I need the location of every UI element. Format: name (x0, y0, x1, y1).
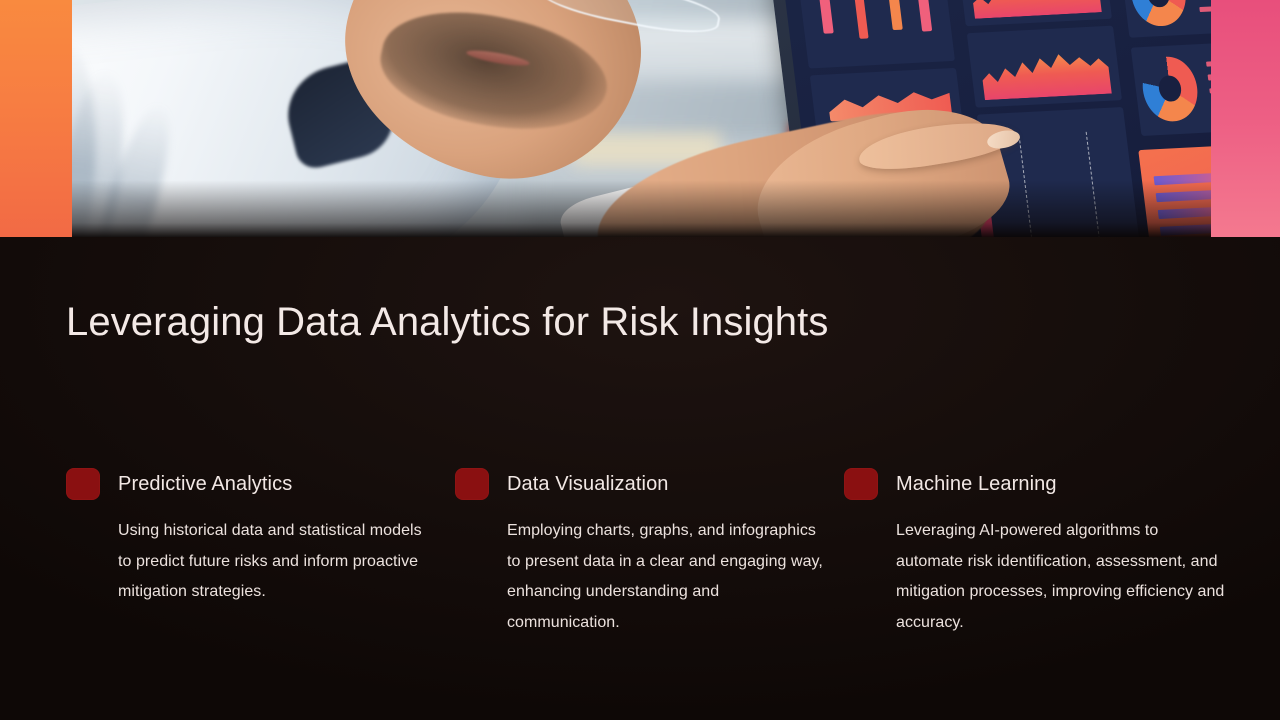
pie-legend-line-4 (1199, 5, 1211, 12)
feature-column-machine-learning: Machine Learning Leveraging AI-powered a… (844, 466, 1226, 638)
pink-accent-band (1211, 0, 1280, 237)
feature-title: Predictive Analytics (118, 473, 292, 496)
feature-body: Employing charts, graphs, and infographi… (507, 516, 827, 638)
slide: Leveraging Data Analytics for Risk Insig… (0, 0, 1280, 720)
feature-column-data-visualization: Data Visualization Employing charts, gra… (455, 466, 844, 638)
bullet-marker-icon (455, 468, 489, 500)
orange-accent-band (0, 0, 72, 237)
feature-header: Machine Learning (844, 466, 1226, 502)
hero-banner (0, 0, 1280, 237)
page-title: Leveraging Data Analytics for Risk Insig… (66, 300, 828, 345)
feature-body: Using historical data and statistical mo… (118, 516, 438, 608)
feature-header: Predictive Analytics (66, 466, 455, 502)
feature-columns: Predictive Analytics Using historical da… (66, 466, 1226, 638)
bullet-marker-icon (66, 468, 100, 500)
bullet-marker-icon (844, 468, 878, 500)
feature-title: Machine Learning (896, 473, 1057, 496)
hero-photo (72, 0, 1211, 237)
widget-highlight-block (1138, 143, 1211, 237)
feature-body: Leveraging AI-powered algorithms to auto… (896, 516, 1226, 638)
feature-column-predictive-analytics: Predictive Analytics Using historical da… (66, 466, 455, 638)
feature-title: Data Visualization (507, 473, 669, 496)
feature-header: Data Visualization (455, 466, 844, 502)
triangle-overlay (1018, 132, 1101, 237)
